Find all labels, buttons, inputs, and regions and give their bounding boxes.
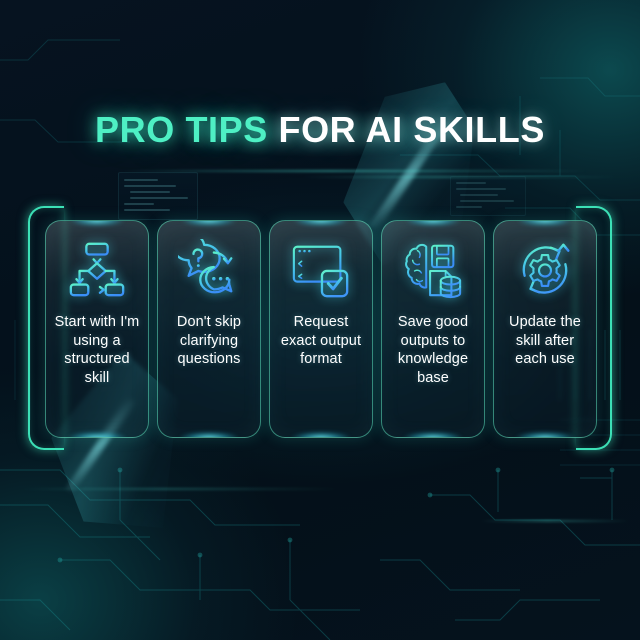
code-window-check-icon (290, 239, 352, 301)
tip-card-4-text: Save good outputs to knowledge base (382, 313, 484, 387)
decor-glow-line-1 (120, 170, 590, 172)
page-title-rest: FOR AI SKILLS (268, 109, 545, 150)
decor-glow-line-4 (480, 520, 630, 522)
page-title: PRO TIPS FOR AI SKILLS (0, 108, 640, 152)
brain-save-database-icon (402, 239, 464, 301)
tip-card-1-text: Start with I'm using a structured skill (46, 313, 148, 387)
tip-card-5[interactable]: Update the skill after each use (493, 220, 597, 438)
tip-card-4[interactable]: Save good outputs to knowledge base (381, 220, 485, 438)
tip-card-1[interactable]: Start with I'm using a structured skill (45, 220, 149, 438)
tip-card-3[interactable]: Request exact output format (269, 220, 373, 438)
tips-card-row: Start with I'm using a structured skill … (45, 220, 597, 438)
flowchart-icon (66, 239, 128, 301)
decor-code-panel-left (118, 172, 198, 220)
question-chat-bubbles-icon (178, 239, 240, 301)
page-title-highlight: PRO TIPS (95, 109, 268, 150)
tip-card-3-text: Request exact output format (270, 313, 372, 369)
gear-refresh-arrow-icon (514, 239, 576, 301)
decor-code-panel-right (450, 176, 526, 216)
tip-card-2[interactable]: Don't skip clarifying questions (157, 220, 261, 438)
decor-glow-line-2 (300, 176, 620, 178)
tip-card-5-text: Update the skill after each use (494, 313, 596, 369)
decor-glow-line-3 (20, 488, 340, 490)
infographic-canvas: PRO TIPS FOR AI SKILLS Start with I'm us… (0, 0, 640, 640)
tip-card-2-text: Don't skip clarifying questions (158, 313, 260, 369)
